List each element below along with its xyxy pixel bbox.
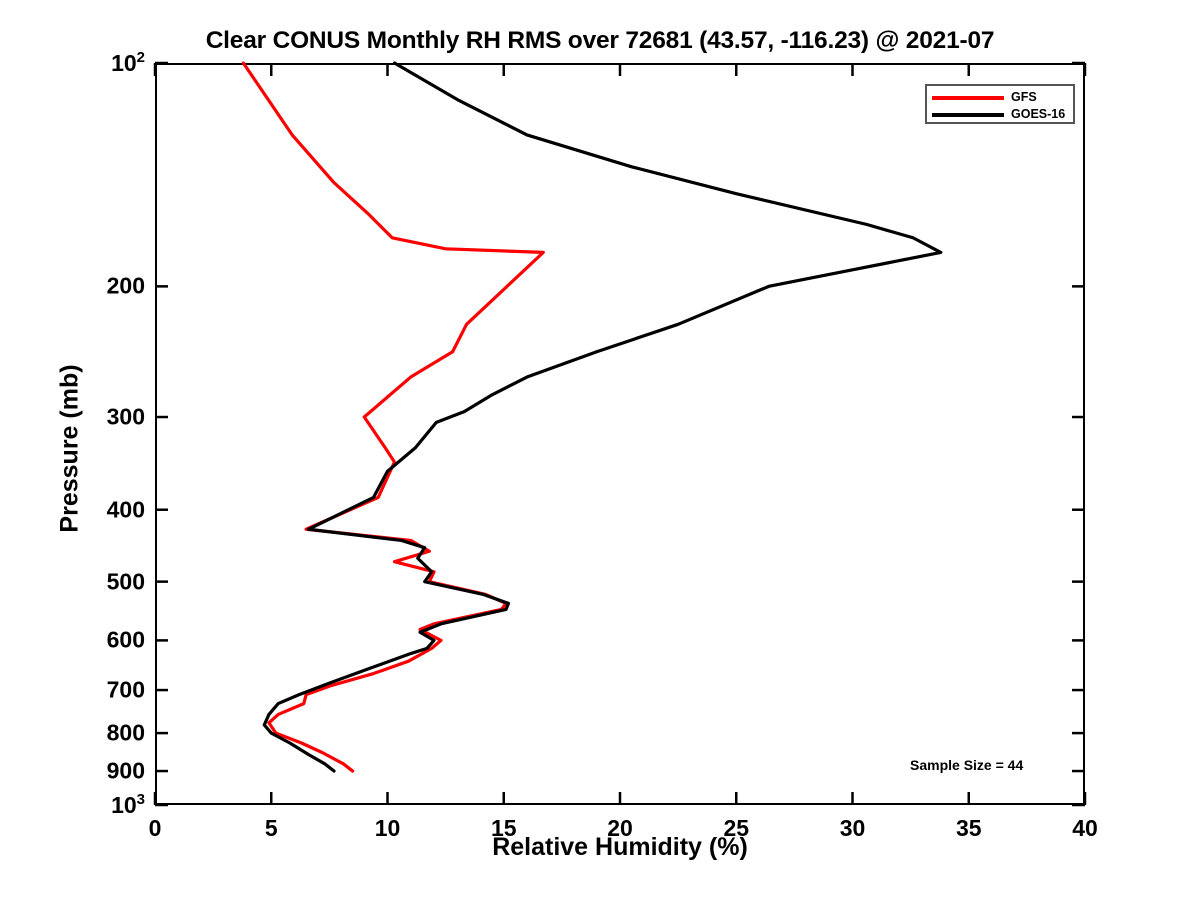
x-tick-label: 15	[491, 815, 517, 842]
y-tick-label: 900	[20, 758, 145, 785]
rh-rms-sounding-figure: Clear CONUS Monthly RH RMS over 72681 (4…	[0, 0, 1200, 900]
y-tick-label: 400	[20, 496, 145, 523]
x-tick-label: 10	[375, 815, 401, 842]
legend-line-icon-gfs	[932, 96, 1004, 100]
x-tick-label: 30	[840, 815, 866, 842]
x-tick-label: 0	[149, 815, 162, 842]
y-tick-label: 800	[20, 720, 145, 747]
y-tick-label: 600	[20, 627, 145, 654]
x-tick-label: 5	[265, 815, 278, 842]
legend-line-icon-goes16	[932, 113, 1004, 117]
legend-label-gfs: GFS	[1011, 91, 1037, 104]
sample-size-annotation: Sample Size = 44	[910, 757, 1023, 773]
x-tick-label: 40	[1072, 815, 1098, 842]
y-tick-label: 200	[20, 273, 145, 300]
x-tick-label: 25	[723, 815, 749, 842]
x-tick-label: 35	[956, 815, 982, 842]
series-line-gfs	[243, 63, 543, 771]
y-axis-label: Pressure (mb)	[56, 319, 85, 579]
data-series-group	[243, 63, 941, 771]
legend-item-goes16: GOES-16	[932, 106, 1068, 123]
legend: GFS GOES-16	[925, 84, 1075, 124]
x-tick-label: 20	[607, 815, 633, 842]
y-tick-label: 700	[20, 677, 145, 704]
y-tick-label: 500	[20, 568, 145, 595]
legend-item-gfs: GFS	[932, 89, 1068, 106]
axis-ticks	[155, 63, 1085, 805]
legend-label-goes16: GOES-16	[1011, 108, 1065, 121]
y-tick-label: 102	[20, 49, 145, 77]
y-tick-label: 103	[20, 791, 145, 819]
y-tick-label: 300	[20, 404, 145, 431]
